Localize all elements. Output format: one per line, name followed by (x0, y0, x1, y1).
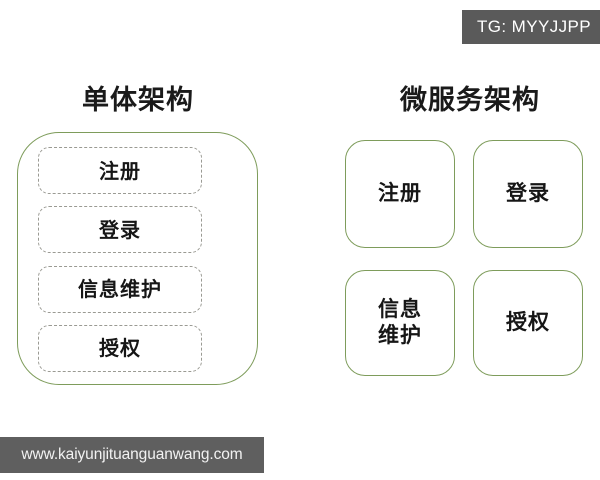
monolith-module-label: 登录 (99, 220, 141, 240)
tg-channel-badge: TG: MYYJJPP (462, 10, 600, 44)
monolith-module-info-maintenance: 信息维护 (38, 266, 202, 313)
microservices-card-grid: 注册 登录 信息 维护 授权 (345, 140, 583, 376)
diagram-canvas: TG: MYYJJPP 单体架构 注册 登录 信息维护 授权 微服务架构 注册 … (0, 0, 600, 480)
monolith-panel-title: 单体架构 (82, 78, 194, 117)
monolith-module-label: 授权 (99, 338, 141, 358)
monolith-module-label: 信息维护 (78, 279, 162, 299)
microservice-card-register: 注册 (345, 140, 455, 248)
monolith-module-list: 注册 登录 信息维护 授权 (38, 147, 202, 372)
monolith-module-login: 登录 (38, 206, 202, 253)
microservice-card-authorization: 授权 (473, 270, 583, 376)
microservice-card-label: 信息 维护 (378, 297, 422, 348)
microservice-card-label: 登录 (506, 181, 550, 207)
monolith-module-label: 注册 (99, 161, 141, 181)
microservice-card-label: 注册 (378, 181, 422, 207)
microservice-card-info-maintenance: 信息 维护 (345, 270, 455, 376)
microservice-card-label: 授权 (506, 310, 550, 336)
site-watermark: www.kaiyunjituanguanwang.com (0, 437, 264, 473)
monolith-module-register: 注册 (38, 147, 202, 194)
monolith-module-authorization: 授权 (38, 325, 202, 372)
microservices-panel-title: 微服务架构 (400, 78, 540, 117)
microservice-card-login: 登录 (473, 140, 583, 248)
